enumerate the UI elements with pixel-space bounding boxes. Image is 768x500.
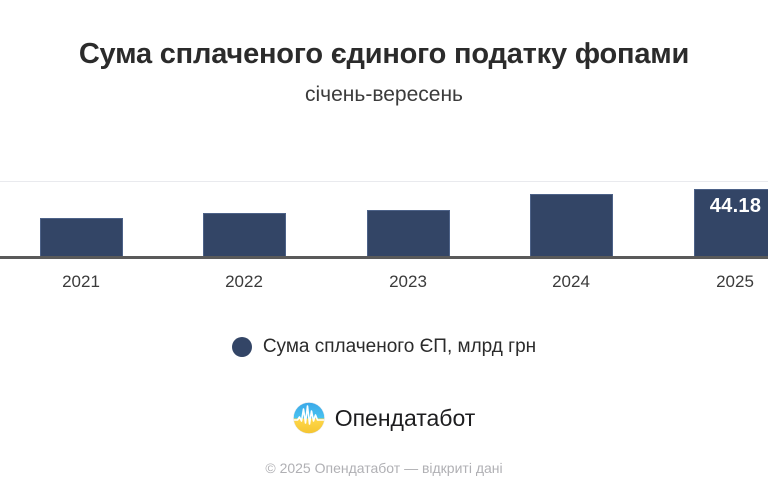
bar-2024[interactable] — [530, 194, 613, 257]
opendatabot-logo-icon — [293, 402, 325, 434]
bar-2021[interactable] — [40, 218, 123, 257]
bars-layer: 44.18 — [0, 181, 768, 259]
circle-marker-icon — [232, 337, 252, 357]
x-tick-2022: 2022 — [225, 272, 263, 292]
x-tick-2021: 2021 — [62, 272, 100, 292]
x-axis-labels: 20212022202320242025 — [0, 272, 768, 296]
bar-2022[interactable] — [203, 213, 286, 257]
x-tick-2025: 2025 — [716, 272, 754, 292]
brand-name: Опендатабот — [335, 405, 476, 432]
chart-footer: © 2025 Опендатабот — відкриті дані — [0, 460, 768, 478]
chart-subtitle: січень-вересень — [0, 74, 768, 108]
chart-legend: Сума сплаченого ЄП, млрд грн — [0, 336, 768, 358]
bar-value-label-2025: 44.18 — [695, 195, 768, 218]
bar-2023[interactable] — [367, 210, 450, 257]
chart-title: Сума сплаченого єдиного податку фопами — [0, 0, 768, 74]
footer-copyright: © 2025 Опендатабот — відкриті дані — [265, 460, 502, 476]
legend-item-label: Сума сплаченого ЄП, млрд грн — [263, 336, 536, 358]
brand-block: Опендатабот — [0, 402, 768, 434]
chart-header: Сума сплаченого єдиного податку фопами с… — [0, 0, 768, 108]
plot-area: 44.18 — [0, 181, 768, 259]
axis-baseline — [0, 256, 768, 259]
x-tick-2024: 2024 — [552, 272, 590, 292]
bar-2025[interactable]: 44.18 — [694, 189, 768, 257]
x-tick-2023: 2023 — [389, 272, 427, 292]
chart-page: Сума сплаченого єдиного податку фопами с… — [0, 0, 768, 500]
legend-item-sum[interactable]: Сума сплаченого ЄП, млрд грн — [232, 336, 536, 358]
